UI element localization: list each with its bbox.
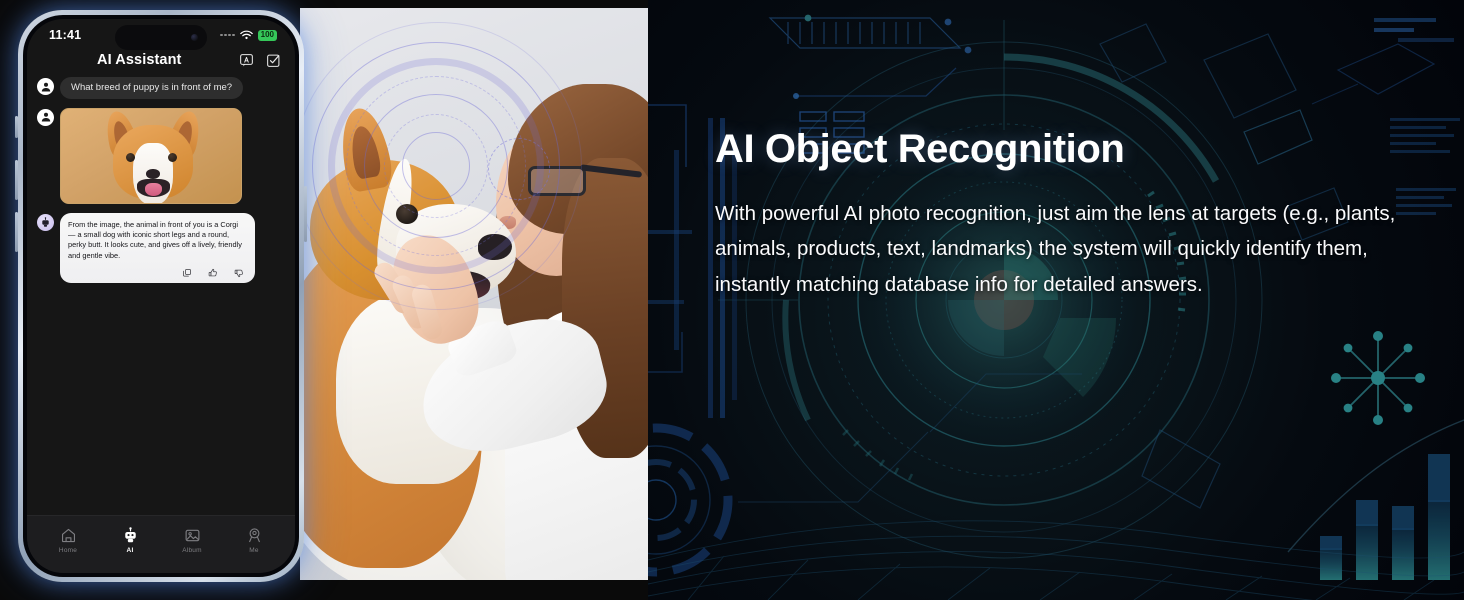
volume-down-button[interactable]: [15, 212, 18, 252]
feature-body-text: With powerful AI photo recognition, just…: [715, 196, 1405, 302]
feature-title: AI Object Recognition: [715, 128, 1405, 170]
screenshot-root: 11:41 100: [0, 0, 1464, 600]
translate-icon[interactable]: [239, 53, 254, 68]
phone-showcase-pane: 11:41 100: [0, 0, 648, 600]
header-actions: [239, 53, 281, 68]
bar-chart-icon: [1288, 420, 1464, 580]
phone-bezel: 11:41 100: [23, 15, 299, 577]
wifi-icon: [240, 30, 253, 40]
ai-message-actions: [68, 268, 247, 278]
chat-thread: What breed of puppy is in front of me?: [27, 77, 295, 283]
chat-message-ai: From the image, the animal in front of y…: [37, 213, 285, 283]
tab-me[interactable]: Me: [228, 527, 280, 554]
status-time: 11:41: [49, 28, 81, 42]
user-avatar-icon: [37, 109, 54, 126]
user-message-bubble: What breed of puppy is in front of me?: [60, 77, 243, 99]
signal-dots-icon: [220, 34, 235, 37]
corgi-illustration: [61, 109, 241, 203]
copy-icon[interactable]: [182, 268, 192, 278]
compose-checkmark-icon[interactable]: [266, 53, 281, 68]
tab-home[interactable]: Home: [42, 527, 94, 554]
home-icon: [60, 527, 77, 544]
front-camera-icon: [191, 34, 198, 41]
feature-description-pane: AI Object Recognition With powerful AI p…: [648, 0, 1464, 600]
phone-device: 11:41 100: [18, 10, 304, 582]
dynamic-island: [115, 25, 207, 50]
phone-screen: 11:41 100: [27, 19, 295, 573]
status-indicators: 100: [220, 30, 277, 41]
node-network-icon: [1331, 331, 1425, 425]
person-icon: [246, 527, 263, 544]
robot-avatar-icon: [37, 214, 54, 231]
battery-indicator: 100: [258, 30, 277, 41]
image-icon: [184, 527, 201, 544]
volume-up-button[interactable]: [15, 160, 18, 200]
chat-message-user: What breed of puppy is in front of me?: [37, 77, 285, 99]
ai-message-text: From the image, the animal in front of y…: [68, 220, 247, 261]
tab-album[interactable]: Album: [166, 527, 218, 554]
page-title: AI Assistant: [97, 52, 181, 68]
tab-label: Me: [249, 547, 258, 554]
thumbs-down-icon[interactable]: [234, 268, 244, 278]
ai-message-bubble: From the image, the animal in front of y…: [60, 213, 255, 283]
chat-message-image: [37, 108, 285, 204]
robot-icon: [122, 527, 139, 544]
tab-label: Album: [182, 547, 201, 554]
corgi-photo-attachment[interactable]: [60, 108, 242, 204]
power-button[interactable]: [304, 186, 307, 242]
hero-photo: [300, 8, 648, 580]
tab-label: AI: [127, 547, 134, 554]
app-header: AI Assistant: [27, 49, 295, 77]
bottom-tab-bar: Home AI: [27, 515, 295, 573]
status-bar: 11:41 100: [27, 19, 295, 49]
ai-scan-rings-overlay: [300, 18, 630, 318]
feature-text-block: AI Object Recognition With powerful AI p…: [715, 128, 1405, 302]
tab-ai[interactable]: AI: [104, 527, 156, 554]
tab-label: Home: [59, 547, 77, 554]
silent-switch[interactable]: [15, 116, 18, 138]
user-avatar-icon: [37, 78, 54, 95]
thumbs-up-icon[interactable]: [208, 268, 218, 278]
